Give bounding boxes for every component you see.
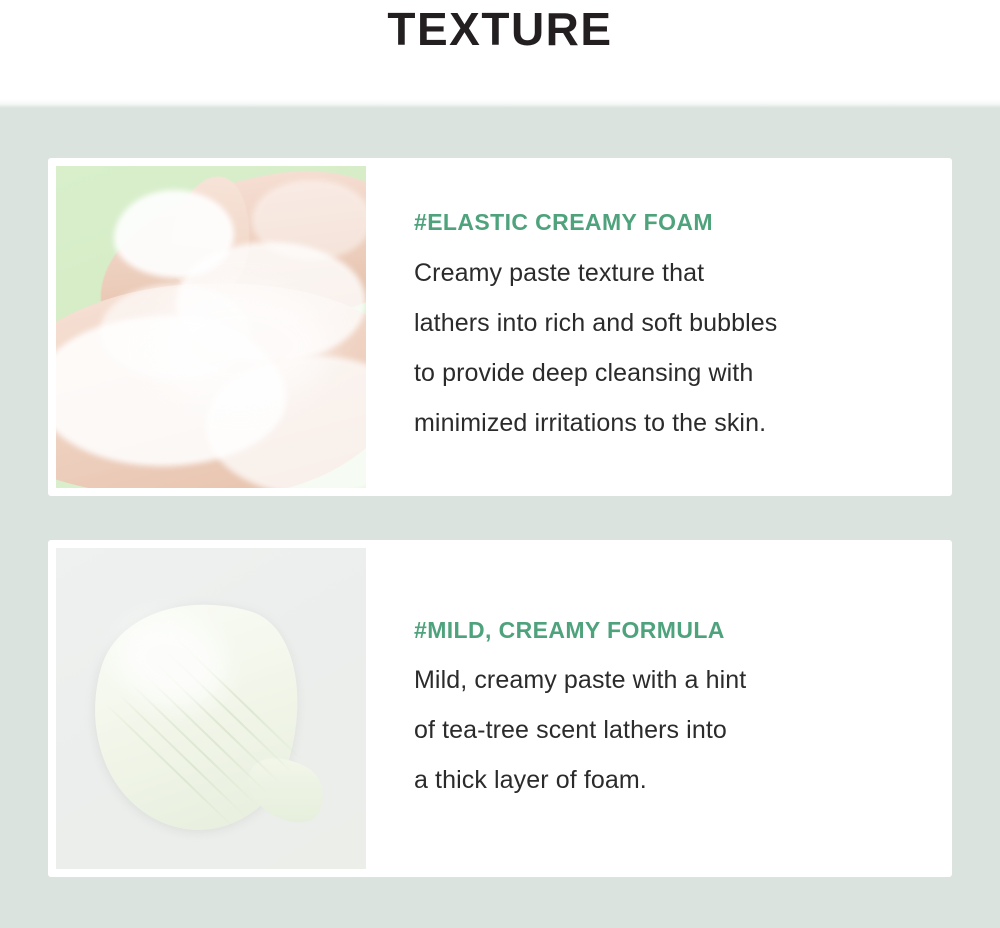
feature-card-elastic-creamy-foam: #ELASTIC CREAMY FOAM Creamy paste textur… — [48, 158, 952, 496]
description-line: a thick layer of foam. — [414, 755, 944, 805]
card-media-hands-foam — [56, 166, 366, 488]
hands-lathering-foam-image — [56, 166, 366, 488]
card-body-elastic-creamy-foam: #ELASTIC CREAMY FOAM Creamy paste textur… — [366, 166, 944, 488]
card-description: Creamy paste texture that lathers into r… — [414, 248, 944, 448]
card-heading: #MILD, CREAMY FORMULA — [414, 618, 944, 643]
page-header: TEXTURE — [0, 0, 1000, 107]
description-line: to provide deep cleansing with — [414, 348, 944, 398]
description-line: minimized irritations to the skin. — [414, 398, 944, 448]
description-line: of tea-tree scent lathers into — [414, 705, 944, 755]
page-background: TEXTURE #ELASTIC CREAMY FOAM Creamy — [0, 0, 1000, 928]
card-body-mild-creamy-formula: #MILD, CREAMY FORMULA Mild, creamy paste… — [366, 548, 944, 869]
card-heading: #ELASTIC CREAMY FOAM — [414, 210, 944, 235]
header-divider — [0, 99, 1000, 108]
description-line: Mild, creamy paste with a hint — [414, 655, 944, 705]
card-media-cream-swatch — [56, 548, 366, 869]
feature-card-mild-creamy-formula: #MILD, CREAMY FORMULA Mild, creamy paste… — [48, 540, 952, 877]
description-line: lathers into rich and soft bubbles — [414, 298, 944, 348]
cream-swatch-image — [56, 548, 366, 869]
description-line: Creamy paste texture that — [414, 248, 944, 298]
page-title: TEXTURE — [387, 6, 612, 52]
foam-highlight — [151, 286, 331, 406]
card-description: Mild, creamy paste with a hint of tea-tr… — [414, 655, 944, 805]
